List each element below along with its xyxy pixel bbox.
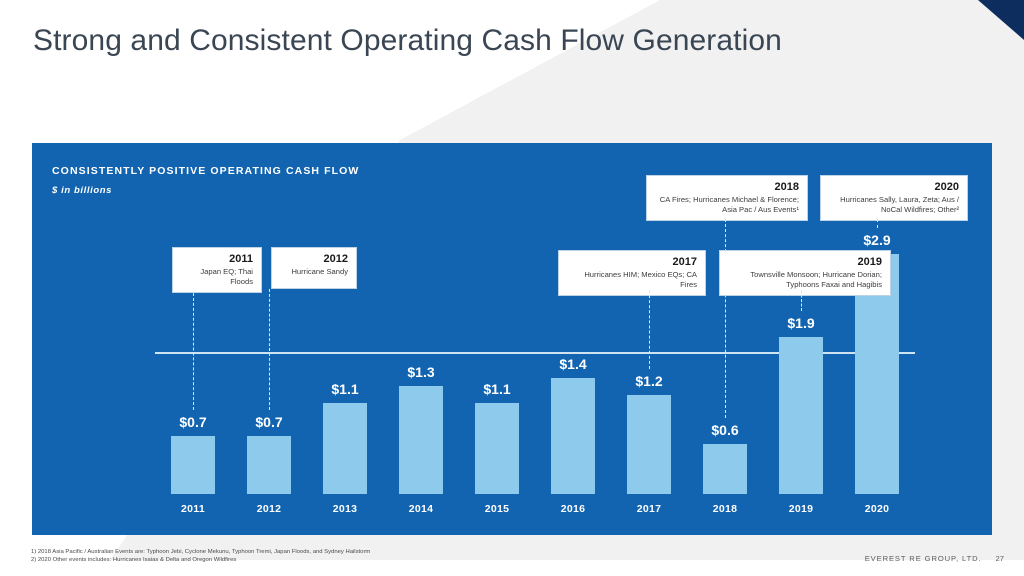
- x-tick-2014: 2014: [409, 503, 434, 515]
- slide: Strong and Consistent Operating Cash Flo…: [0, 0, 1024, 576]
- bar-value-2017: $1.2: [635, 373, 662, 389]
- callout-connector-2019: [801, 290, 802, 311]
- x-tick-2019: 2019: [789, 503, 814, 515]
- x-tick-2016: 2016: [561, 503, 586, 515]
- callout-2011: 2011Japan EQ; Thai Floods: [172, 247, 262, 293]
- x-tick-2015: 2015: [485, 503, 510, 515]
- x-tick-2013: 2013: [333, 503, 358, 515]
- bar-value-2013: $1.1: [331, 381, 358, 397]
- bar-value-2015: $1.1: [483, 381, 510, 397]
- x-tick-2012: 2012: [257, 503, 282, 515]
- slide-footer: EVEREST RE GROUP, LTD. 27: [865, 554, 1004, 563]
- footnotes: 1) 2018 Asia Pacific / Australian Events…: [31, 548, 370, 565]
- footnote-2: 2) 2020 Other events includes: Hurricane…: [31, 556, 370, 564]
- callout-connector-2020: [877, 219, 878, 228]
- callout-connector-2012: [269, 289, 270, 410]
- chart-subheading: $ in billions: [52, 185, 112, 196]
- bar-2011: [171, 436, 215, 494]
- x-tick-2018: 2018: [713, 503, 738, 515]
- callout-text-2011: Japan EQ; Thai Floods: [181, 267, 253, 286]
- callout-year-2018: 2018: [655, 181, 799, 194]
- company-name: EVEREST RE GROUP, LTD.: [865, 554, 982, 563]
- callout-text-2017: Hurricanes HIM; Mexico EQs; CA Fires: [567, 270, 697, 289]
- bar-2014: [399, 386, 443, 494]
- bar-value-2018: $0.6: [711, 422, 738, 438]
- callout-text-2012: Hurricane Sandy: [280, 267, 348, 277]
- bar-value-2012: $0.7: [255, 414, 282, 430]
- callout-connector-2011: [193, 293, 194, 410]
- bar-value-2020: $2.9: [863, 232, 890, 248]
- x-tick-2011: 2011: [181, 503, 205, 515]
- x-tick-2020: 2020: [865, 503, 890, 515]
- bar-2013: [323, 403, 367, 494]
- callout-2017: 2017Hurricanes HIM; Mexico EQs; CA Fires: [558, 250, 706, 296]
- callout-connector-2018: [725, 219, 726, 418]
- bar-value-2016: $1.4: [559, 356, 586, 372]
- bar-2017: [627, 395, 671, 494]
- callout-year-2017: 2017: [567, 256, 697, 269]
- bar-2015: [475, 403, 519, 494]
- callout-connector-2017: [649, 290, 650, 369]
- bar-2012: [247, 436, 291, 494]
- bar-2019: [779, 337, 823, 494]
- callout-text-2018: CA Fires; Hurricanes Michael & Florence;…: [655, 195, 799, 214]
- callout-year-2020: 2020: [829, 181, 959, 194]
- callout-2018: 2018CA Fires; Hurricanes Michael & Flore…: [646, 175, 808, 221]
- footnote-1: 1) 2018 Asia Pacific / Australian Events…: [31, 548, 370, 556]
- callout-text-2019: Townsville Monsoon; Hurricane Dorian; Ty…: [728, 270, 882, 289]
- page-number: 27: [996, 554, 1004, 563]
- callout-2019: 2019Townsville Monsoon; Hurricane Dorian…: [719, 250, 891, 296]
- background-band-top: [0, 0, 1024, 140]
- callout-year-2011: 2011: [181, 253, 253, 266]
- callout-2020: 2020Hurricanes Sally, Laura, Zeta; Aus /…: [820, 175, 968, 221]
- bar-value-2019: $1.9: [787, 315, 814, 331]
- callout-2012: 2012Hurricane Sandy: [271, 247, 357, 289]
- bar-2016: [551, 378, 595, 494]
- bar-value-2011: $0.7: [179, 414, 206, 430]
- chart-heading: CONSISTENTLY POSITIVE OPERATING CASH FLO…: [52, 165, 359, 177]
- x-tick-2017: 2017: [637, 503, 662, 515]
- callout-text-2020: Hurricanes Sally, Laura, Zeta; Aus / NoC…: [829, 195, 959, 214]
- bar-value-2014: $1.3: [407, 364, 434, 380]
- callout-year-2019: 2019: [728, 256, 882, 269]
- page-title: Strong and Consistent Operating Cash Flo…: [33, 24, 782, 58]
- callout-year-2012: 2012: [280, 253, 348, 266]
- bar-2018: [703, 444, 747, 494]
